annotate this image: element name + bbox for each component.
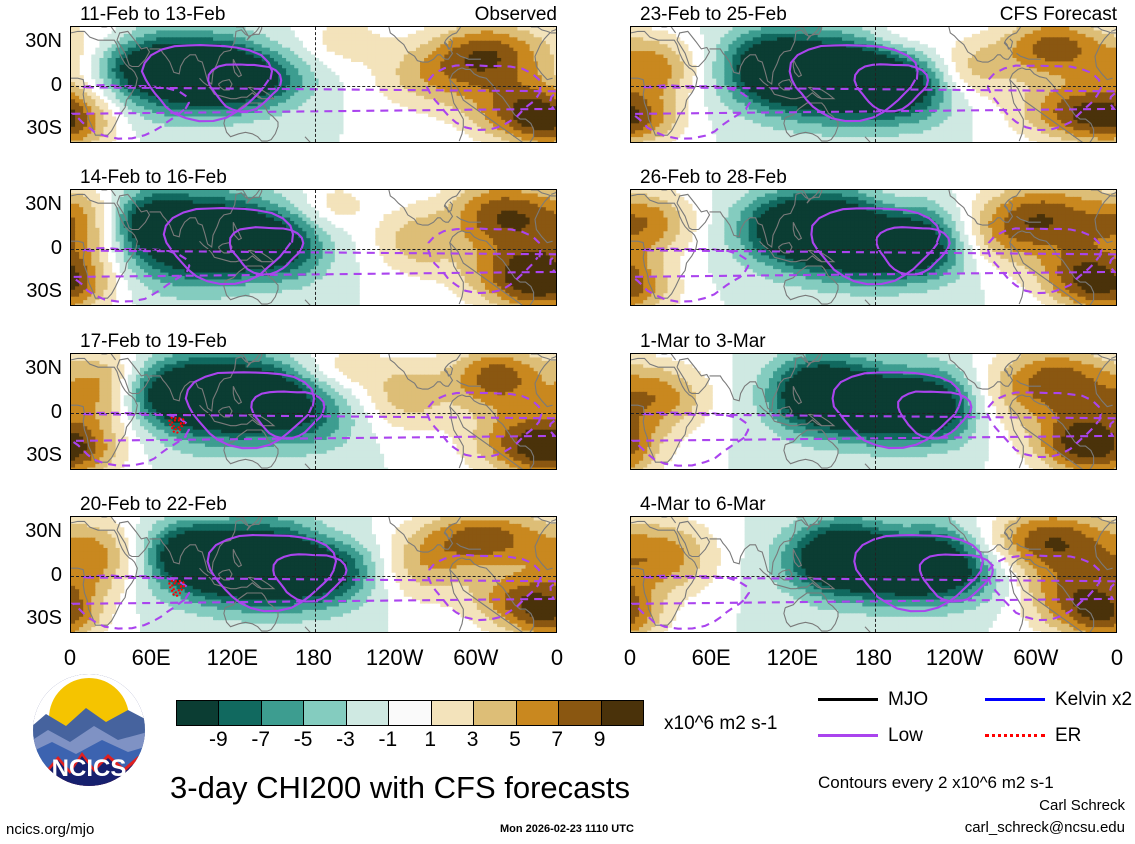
map-field <box>71 354 556 469</box>
colorbar-swatch-10 <box>559 701 601 725</box>
equator-line <box>631 249 1116 250</box>
legend-entry-low: Low <box>818 726 923 745</box>
colorbar-swatch-3 <box>262 701 304 725</box>
equator-line <box>71 249 556 250</box>
website-url: ncics.org/mjo <box>6 822 94 837</box>
x-tick-180-col2: 180 <box>834 647 914 669</box>
equator-line <box>71 576 556 577</box>
equator-line <box>631 576 1116 577</box>
colorbar-tick-9: 9 <box>570 729 630 750</box>
dateline-marker <box>315 190 316 305</box>
x-tick-120E-col1: 120E <box>192 647 272 669</box>
legend-line-swatch <box>985 698 1045 701</box>
equator-line <box>631 86 1116 87</box>
y-tick-30S-row1: 30S <box>0 118 62 138</box>
map-panel-1 <box>70 26 557 143</box>
x-tick-0-col2: 0 <box>1077 647 1135 669</box>
ncics-logo-graphic: NCICS <box>28 672 150 794</box>
column-header-forecast: CFS Forecast <box>630 5 1117 24</box>
equator-line <box>71 86 556 87</box>
map-field <box>71 517 556 632</box>
legend-entry-kelvin-x2: Kelvin x2 <box>985 690 1132 709</box>
legend-line-swatch <box>818 698 878 701</box>
y-tick-0-row4: 0 <box>0 565 62 585</box>
y-tick-0-row3: 0 <box>0 402 62 422</box>
author-email: carl_schreck@ncsu.edu <box>800 820 1125 835</box>
colorbar-swatch-5 <box>347 701 389 725</box>
y-tick-30N-row2: 30N <box>0 194 62 214</box>
author-name: Carl Schreck <box>800 798 1125 813</box>
contour-interval-note: Contours every 2 x10^6 m2 s-1 <box>818 774 1054 791</box>
colorbar-swatch-6 <box>389 701 431 725</box>
x-tick-0-col1: 0 <box>30 647 110 669</box>
x-tick-60W-col2: 60W <box>996 647 1076 669</box>
legend-label: MJO <box>888 690 928 709</box>
colorbar-swatch-1 <box>177 701 219 725</box>
panel-title-8: 4-Mar to 6-Mar <box>640 495 766 514</box>
dateline-marker <box>315 27 316 142</box>
x-tick-0-col1: 0 <box>517 647 597 669</box>
legend-label: Kelvin x2 <box>1055 690 1132 709</box>
x-tick-60W-col1: 60W <box>436 647 516 669</box>
colorbar-swatch-8 <box>474 701 516 725</box>
panel-title-4: 20-Feb to 22-Feb <box>80 495 227 514</box>
map-field <box>631 27 1116 142</box>
x-tick-0-col2: 0 <box>590 647 670 669</box>
y-tick-30S-row3: 30S <box>0 445 62 465</box>
panel-title-2: 14-Feb to 16-Feb <box>80 168 227 187</box>
colorbar-swatch-2 <box>219 701 261 725</box>
ncics-logo: NCICS <box>28 672 150 794</box>
y-tick-30N-row3: 30N <box>0 358 62 378</box>
map-panel-2 <box>70 189 557 306</box>
equator-line <box>71 413 556 414</box>
legend-line-swatch <box>985 734 1045 737</box>
x-tick-120W-col1: 120W <box>355 647 435 669</box>
x-tick-60E-col1: 60E <box>111 647 191 669</box>
legend-entry-er: ER <box>985 726 1081 745</box>
x-tick-60E-col2: 60E <box>671 647 751 669</box>
dateline-marker <box>875 27 876 142</box>
dateline-marker <box>315 354 316 469</box>
y-tick-0-row1: 0 <box>0 75 62 95</box>
generation-timestamp: Mon 2026-02-23 1110 UTC <box>500 824 634 835</box>
equator-line <box>631 413 1116 414</box>
panel-title-6: 26-Feb to 28-Feb <box>640 168 787 187</box>
colorbar-units-label: x10^6 m2 s-1 <box>664 714 777 733</box>
map-field <box>631 354 1116 469</box>
x-tick-180-col1: 180 <box>274 647 354 669</box>
dateline-marker <box>315 517 316 632</box>
legend-entry-mjo: MJO <box>818 690 928 709</box>
column-header-observed: Observed <box>70 5 557 24</box>
colorbar-swatch-9 <box>517 701 559 725</box>
x-tick-120E-col2: 120E <box>752 647 832 669</box>
dateline-marker <box>875 190 876 305</box>
y-tick-30N-row1: 30N <box>0 31 62 51</box>
map-field <box>71 27 556 142</box>
main-title: 3-day CHI200 with CFS forecasts <box>170 772 630 803</box>
colorbar <box>176 700 644 726</box>
y-tick-30N-row4: 30N <box>0 521 62 541</box>
y-tick-30S-row4: 30S <box>0 608 62 628</box>
legend-label: ER <box>1055 726 1081 745</box>
colorbar-swatch-7 <box>432 701 474 725</box>
map-panel-8 <box>630 516 1117 633</box>
colorbar-swatch-4 <box>304 701 346 725</box>
panel-title-3: 17-Feb to 19-Feb <box>80 332 227 351</box>
map-panel-7 <box>630 353 1117 470</box>
map-panel-4 <box>70 516 557 633</box>
map-panel-6 <box>630 189 1117 306</box>
map-field <box>71 190 556 305</box>
y-tick-0-row2: 0 <box>0 238 62 258</box>
dateline-marker <box>875 517 876 632</box>
map-panel-3 <box>70 353 557 470</box>
colorbar-swatch-11 <box>602 701 643 725</box>
map-field <box>631 190 1116 305</box>
ncics-logo-text: NCICS <box>52 755 127 782</box>
y-tick-30S-row2: 30S <box>0 281 62 301</box>
legend-label: Low <box>888 726 923 745</box>
panel-title-7: 1-Mar to 3-Mar <box>640 332 766 351</box>
map-field <box>631 517 1116 632</box>
x-tick-120W-col2: 120W <box>915 647 995 669</box>
dateline-marker <box>875 354 876 469</box>
legend-line-swatch <box>818 734 878 737</box>
map-panel-5 <box>630 26 1117 143</box>
